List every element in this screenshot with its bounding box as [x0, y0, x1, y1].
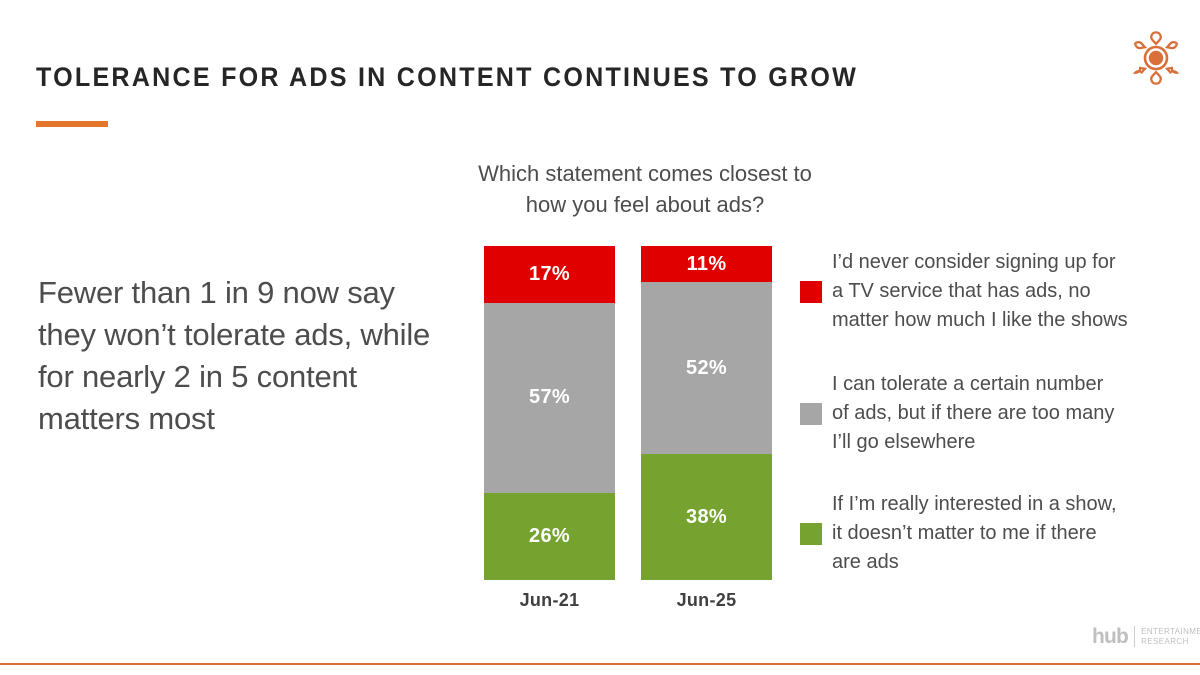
bar-segment-content-matters[interactable]: 38% [641, 454, 772, 580]
bar-jun-21[interactable]: 17% 57% 26% [484, 246, 615, 580]
slide-canvas: Tolerance for ads in content continues t… [0, 0, 1200, 675]
footer-accent-rule [0, 663, 1200, 665]
x-axis-label-jun-21: Jun-21 [484, 590, 615, 611]
legend-line: I’ll go elsewhere [832, 428, 1200, 457]
legend-item-never-ads[interactable]: I’d never consider signing up for a TV s… [800, 248, 1200, 335]
title-accent-bar [36, 121, 108, 127]
legend-swatch-green [800, 523, 822, 545]
bar-segment-never-ads[interactable]: 11% [641, 246, 772, 282]
page-title: Tolerance for ads in content continues t… [36, 62, 858, 93]
bar-segment-tolerate-some[interactable]: 57% [484, 303, 615, 493]
bar-segment-value: 52% [686, 357, 727, 380]
legend-item-content-matters[interactable]: If I’m really interested in a show, it d… [800, 490, 1200, 577]
footer-logo-divider [1134, 626, 1135, 647]
x-axis-labels: Jun-21 Jun-25 [470, 590, 790, 616]
legend-line: I’d never consider signing up for [832, 248, 1200, 277]
legend-item-label: If I’m really interested in a show, it d… [832, 490, 1200, 577]
legend-line: matter how much I like the shows [832, 306, 1200, 335]
legend-item-label: I’d never consider signing up for a TV s… [832, 248, 1200, 335]
bar-segment-content-matters[interactable]: 26% [484, 493, 615, 580]
footer-sub-line-2: RESEARCH [1141, 637, 1200, 647]
lead-statement: Fewer than 1 in 9 now say they won’t tol… [38, 272, 438, 440]
bar-segment-tolerate-some[interactable]: 52% [641, 282, 772, 454]
legend-line: If I’m really interested in a show, [832, 490, 1200, 519]
stacked-bar-chart: 17% 57% 26% 11% 52% 38% [470, 246, 790, 580]
bar-segment-never-ads[interactable]: 17% [484, 246, 615, 303]
bar-segment-value: 38% [686, 506, 727, 529]
legend-item-tolerate-some[interactable]: I can tolerate a certain number of ads, … [800, 370, 1200, 457]
legend-line: of ads, but if there are too many [832, 399, 1200, 428]
legend-swatch-gray [800, 403, 822, 425]
legend-item-label: I can tolerate a certain number of ads, … [832, 370, 1200, 457]
chart-question-line-1: Which statement comes closest to [420, 158, 870, 189]
bar-segment-value: 26% [529, 525, 570, 548]
hub-sun-icon [1124, 26, 1188, 90]
chart-question-title: Which statement comes closest to how you… [420, 158, 870, 220]
footer-logo-subtext: ENTERTAINMENT RESEARCH [1141, 627, 1200, 647]
footer-sub-line-1: ENTERTAINMENT [1141, 627, 1200, 637]
bar-segment-value: 57% [529, 386, 570, 409]
legend-swatch-red [800, 281, 822, 303]
chart-question-line-2: how you feel about ads? [420, 189, 870, 220]
bar-segment-value: 11% [687, 253, 727, 276]
legend-line: are ads [832, 548, 1200, 577]
bar-segment-value: 17% [529, 263, 570, 286]
bar-jun-25[interactable]: 11% 52% 38% [641, 246, 772, 580]
legend-line: a TV service that has ads, no [832, 277, 1200, 306]
hub-entertainment-research-logo: hub ENTERTAINMENT RESEARCH [1092, 626, 1200, 647]
legend-line: it doesn’t matter to me if there [832, 519, 1200, 548]
x-axis-label-jun-25: Jun-25 [641, 590, 772, 611]
legend-line: I can tolerate a certain number [832, 370, 1200, 399]
footer-wordmark: hub [1092, 626, 1128, 647]
